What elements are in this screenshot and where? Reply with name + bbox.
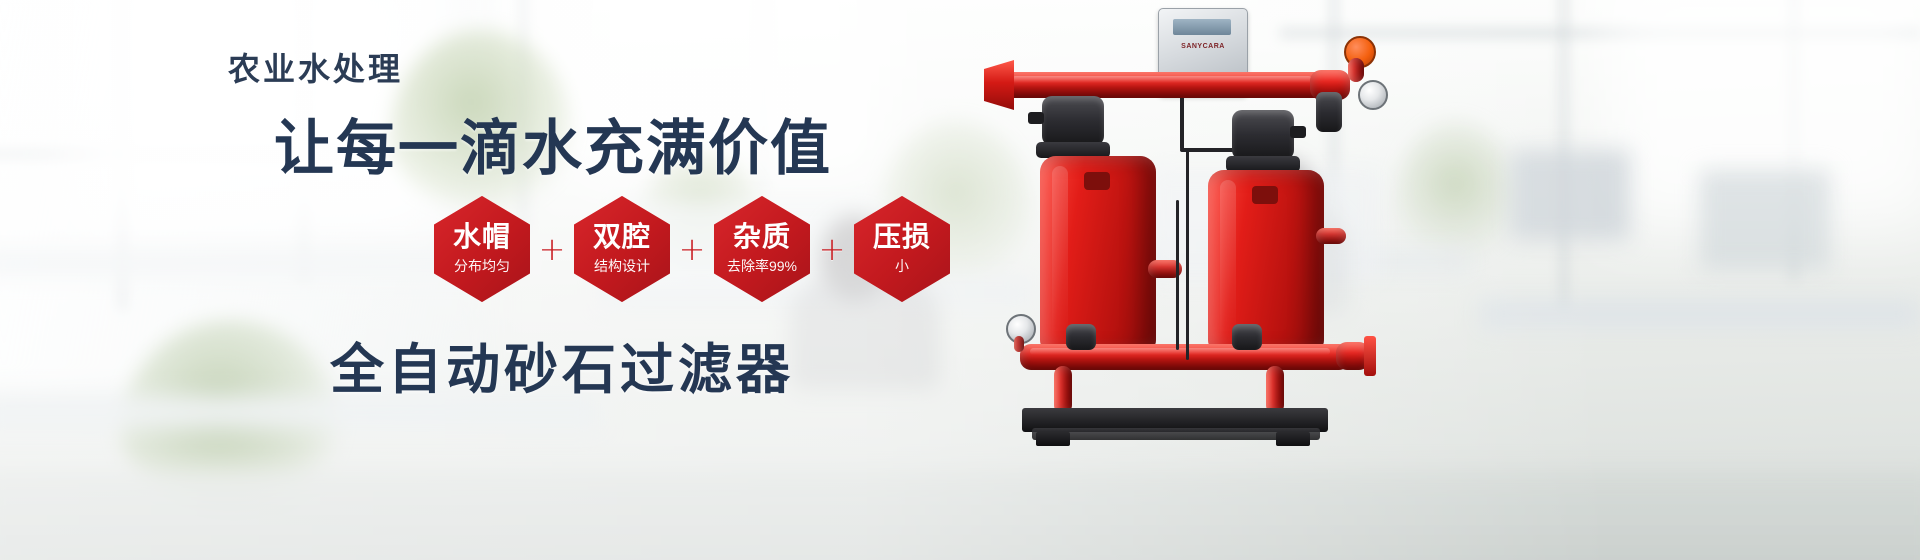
feature-badge-impurity: 杂质 去除率99% bbox=[714, 196, 810, 302]
feature-badge-subtitle: 去除率99% bbox=[727, 256, 797, 276]
tank-handhole-right bbox=[1252, 186, 1278, 204]
sensor-cable bbox=[1186, 150, 1189, 360]
main-headline: 让每一滴水充满价值 bbox=[274, 100, 832, 187]
feature-badge-title: 压损 bbox=[873, 222, 931, 251]
controller-screen bbox=[1173, 19, 1231, 35]
sensor-cable bbox=[1176, 200, 1179, 350]
support-leg bbox=[1054, 366, 1072, 414]
feature-badge-water-cap: 水帽 分布均匀 bbox=[434, 196, 530, 302]
plus-separator-icon: + bbox=[810, 233, 854, 265]
valve-handle-right bbox=[1290, 126, 1306, 138]
top-right-valve bbox=[1316, 92, 1342, 132]
tank-handhole-left bbox=[1084, 172, 1110, 190]
valve-handle-left bbox=[1028, 112, 1044, 124]
pressure-gauge-top bbox=[1358, 80, 1388, 110]
eyebrow-text: 农业水处理 bbox=[228, 44, 403, 90]
tank-valve-right bbox=[1232, 110, 1294, 160]
inlet-cone bbox=[984, 60, 1014, 110]
pipe-highlight bbox=[1012, 76, 1312, 83]
outlet-riser bbox=[1348, 58, 1364, 82]
product-image-sand-filter: SANYCARA bbox=[980, 0, 1540, 560]
side-nozzle bbox=[1316, 228, 1346, 244]
feature-badge-dual-chamber: 双腔 结构设计 bbox=[574, 196, 670, 302]
base-foot bbox=[1276, 432, 1310, 446]
gauge-stem bbox=[1014, 336, 1024, 352]
feature-badge-subtitle: 结构设计 bbox=[594, 256, 650, 276]
bottom-valve-right bbox=[1232, 324, 1262, 350]
feature-badge-title: 水帽 bbox=[453, 222, 511, 251]
tank-highlight bbox=[1220, 180, 1236, 344]
promo-banner: 农业水处理 让每一滴水充满价值 全自动砂石过滤器 水帽 分布均匀 + 双腔 结构… bbox=[0, 0, 1920, 560]
feature-badge-subtitle: 小 bbox=[895, 256, 909, 276]
feature-badge-row: 水帽 分布均匀 + 双腔 结构设计 + 杂质 去除率99% + 压损 小 bbox=[434, 196, 950, 302]
feature-badge-title: 杂质 bbox=[733, 222, 791, 251]
drain-flange bbox=[1364, 336, 1376, 376]
bottom-valve-left bbox=[1066, 324, 1096, 350]
feature-badge-title: 双腔 bbox=[593, 222, 651, 251]
feature-badge-subtitle: 分布均匀 bbox=[454, 256, 510, 276]
controller-brand-label: SANYCARA bbox=[1167, 43, 1239, 50]
base-foot bbox=[1036, 432, 1070, 446]
tank-valve-left bbox=[1042, 96, 1104, 146]
product-headline: 全自动砂石过滤器 bbox=[330, 325, 794, 404]
controller-cable bbox=[1180, 92, 1184, 150]
plus-separator-icon: + bbox=[530, 233, 574, 265]
plus-separator-icon: + bbox=[670, 233, 714, 265]
support-leg bbox=[1266, 366, 1284, 414]
tank-highlight bbox=[1052, 166, 1068, 344]
feature-badge-pressure-loss: 压损 小 bbox=[854, 196, 950, 302]
